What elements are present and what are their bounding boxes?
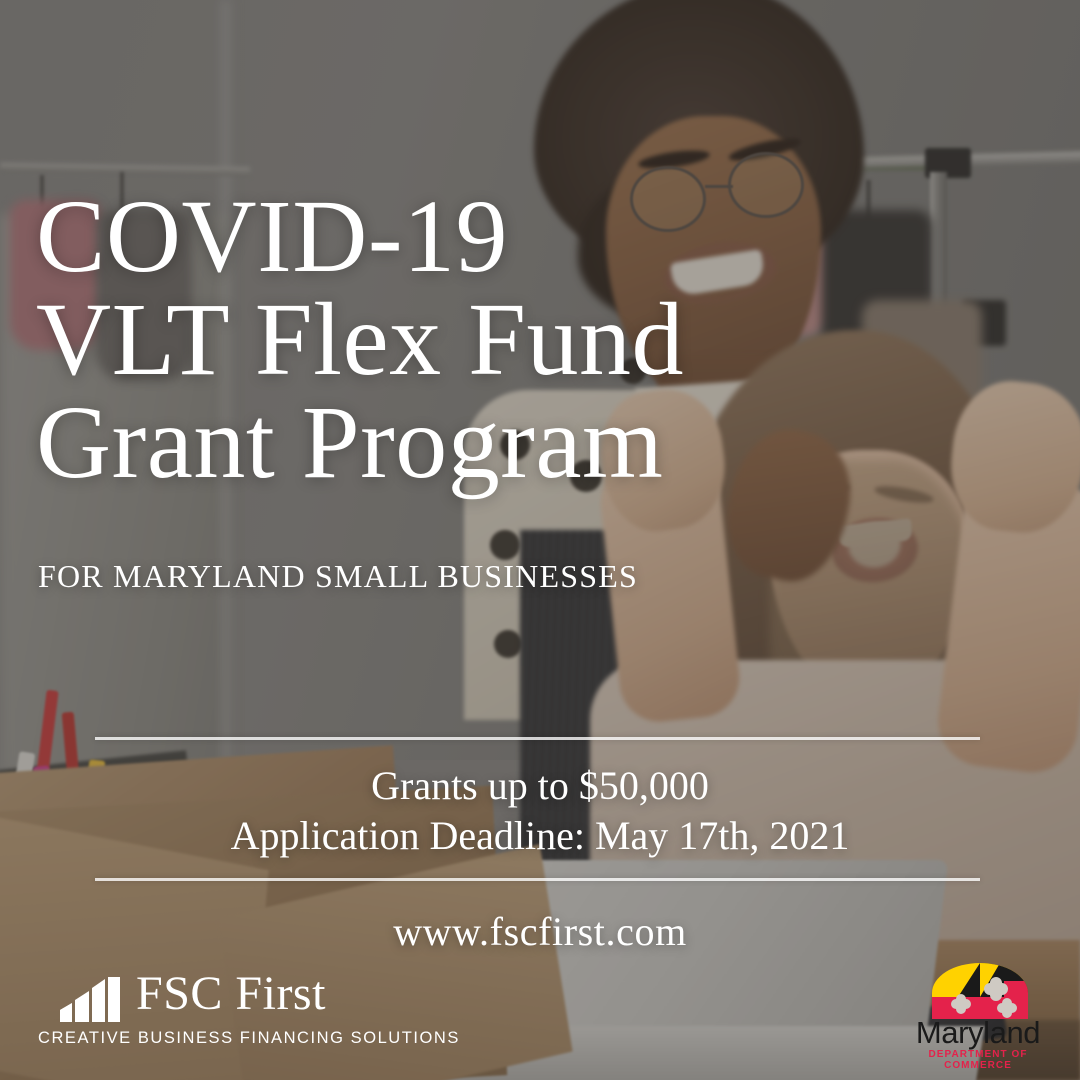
fsc-first-logo[interactable]: FSC First CREATIVE BUSINESS FINANCING SO… bbox=[38, 972, 338, 1064]
headline-line-1: COVID-19 bbox=[36, 186, 976, 289]
fsc-bars-icon bbox=[58, 976, 124, 1024]
deadline-text: Application Deadline: May 17th, 2021 bbox=[0, 812, 1080, 859]
subheadline: FOR MARYLAND SMALL BUSINESSES bbox=[38, 558, 638, 595]
headline-line-3: Grant Program bbox=[36, 392, 976, 495]
maryland-commerce-logo[interactable]: Maryland DEPARTMENT OF COMMERCE bbox=[898, 963, 1058, 1071]
divider-bottom bbox=[95, 878, 980, 881]
maryland-name: Maryland bbox=[898, 1017, 1058, 1048]
maryland-flag-crest-icon bbox=[928, 963, 1032, 1019]
grant-amount-text: Grants up to $50,000 bbox=[0, 762, 1080, 809]
fsc-first-name: FSC First bbox=[136, 970, 326, 1018]
headline-line-2: VLT Flex Fund bbox=[36, 289, 976, 392]
website-link[interactable]: www.fscfirst.com bbox=[0, 908, 1080, 955]
poster-canvas: COVID-19 VLT Flex Fund Grant Program FOR… bbox=[0, 0, 1080, 1080]
maryland-department-label: DEPARTMENT OF COMMERCE bbox=[898, 1049, 1058, 1071]
page-title: COVID-19 VLT Flex Fund Grant Program bbox=[36, 186, 976, 495]
divider-top bbox=[95, 737, 980, 740]
fsc-first-tagline: CREATIVE BUSINESS FINANCING SOLUTIONS bbox=[38, 1029, 460, 1048]
poster-content: COVID-19 VLT Flex Fund Grant Program FOR… bbox=[0, 0, 1080, 1080]
